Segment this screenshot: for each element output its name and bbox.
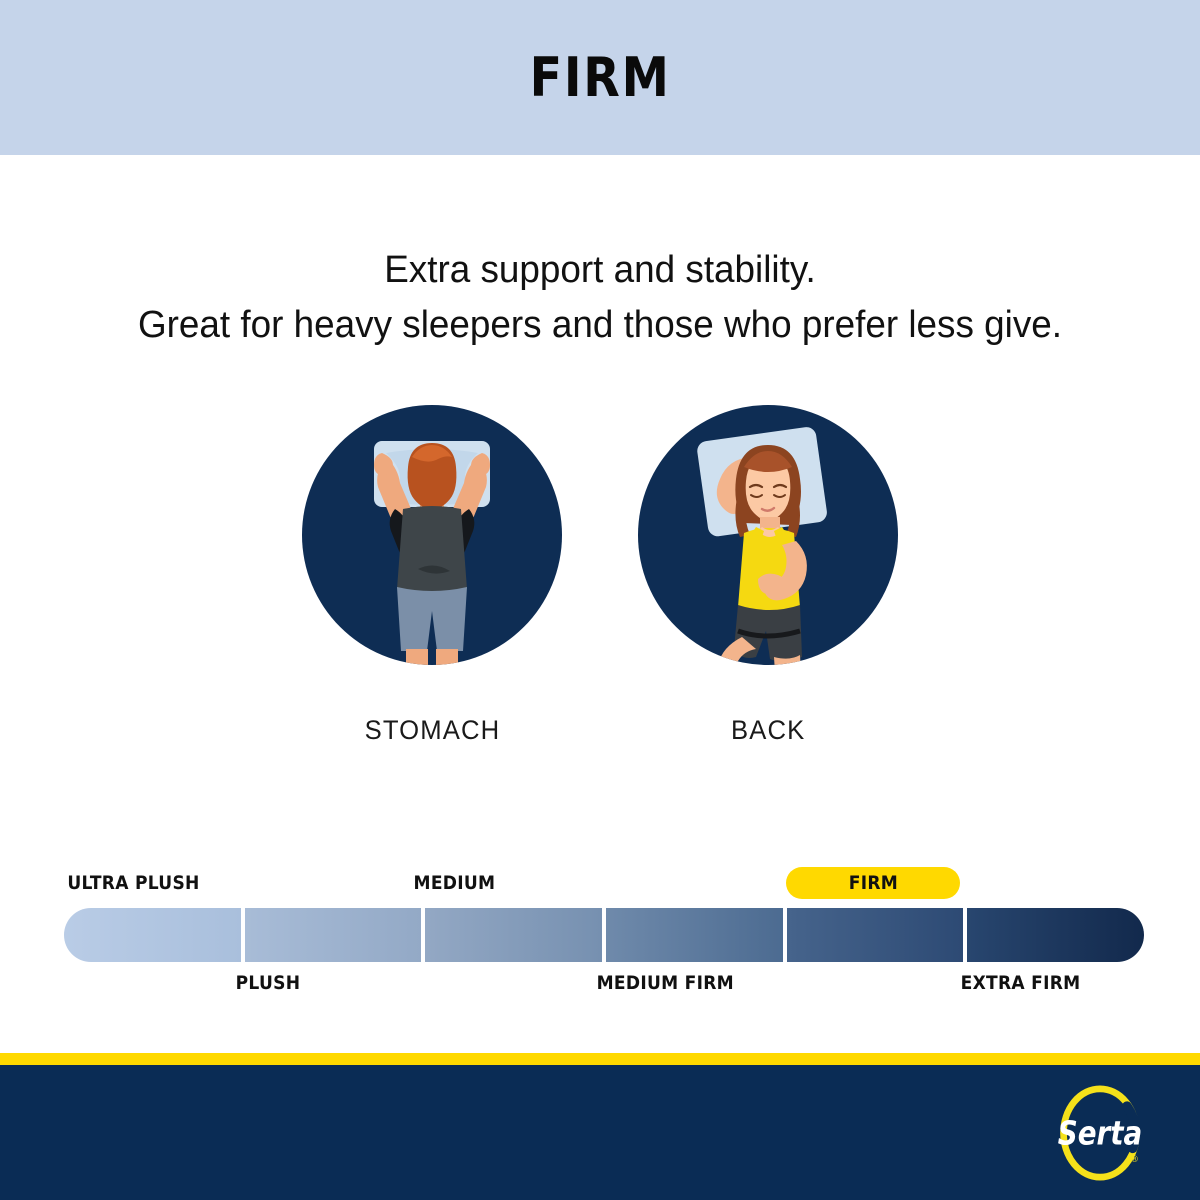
stomach-sleeper-icon bbox=[302, 405, 562, 665]
sleep-positions: STOMACH bbox=[0, 405, 1200, 746]
subtitle-line-1: Extra support and stability. bbox=[18, 243, 1182, 298]
firmness-segment-medium-firm[interactable] bbox=[606, 908, 783, 962]
firmness-segment-plush[interactable] bbox=[245, 908, 422, 962]
firmness-label-medium: MEDIUM bbox=[414, 872, 496, 894]
serta-logo-trademark: ® bbox=[1130, 1155, 1139, 1165]
firmness-segment-ultra-plush[interactable] bbox=[64, 908, 241, 962]
firmness-label-extra-firm: EXTRA FIRM bbox=[961, 972, 1081, 994]
firmness-label-plush: PLUSH bbox=[236, 972, 301, 994]
back-sleeper-icon bbox=[638, 405, 898, 665]
position-label-stomach: STOMACH bbox=[364, 715, 500, 746]
page-footer: Serta ® bbox=[0, 1065, 1200, 1200]
back-sleeper-illustration bbox=[638, 405, 898, 665]
position-card-back: BACK bbox=[638, 405, 898, 746]
firmness-scale: ULTRA PLUSH PLUSH MEDIUM MEDIUM FIRM EXT… bbox=[64, 862, 1144, 1007]
subtitle-block: Extra support and stability. Great for h… bbox=[0, 243, 1200, 353]
page-header: FIRM bbox=[0, 0, 1200, 155]
serta-logo-text: Serta bbox=[1058, 1115, 1142, 1153]
position-label-back: BACK bbox=[731, 715, 805, 746]
footer-accent-stripe bbox=[0, 1053, 1200, 1065]
firmness-segment-extra-firm[interactable] bbox=[967, 908, 1144, 962]
firmness-segment-firm[interactable] bbox=[787, 908, 964, 962]
firmness-scale-bar bbox=[64, 908, 1144, 962]
firmness-label-ultra-plush: ULTRA PLUSH bbox=[67, 872, 199, 894]
firmness-segment-medium[interactable] bbox=[425, 908, 602, 962]
page-title: FIRM bbox=[529, 51, 670, 105]
position-card-stomach: STOMACH bbox=[302, 405, 562, 746]
firmness-selected-badge-firm[interactable]: FIRM bbox=[786, 867, 960, 899]
firmness-selected-badge-label: FIRM bbox=[848, 872, 897, 894]
firmness-label-medium-firm: MEDIUM FIRM bbox=[597, 972, 734, 994]
serta-logo[interactable]: Serta ® bbox=[1052, 1085, 1148, 1181]
subtitle-line-2: Great for heavy sleepers and those who p… bbox=[18, 298, 1182, 353]
stomach-sleeper-illustration bbox=[302, 405, 562, 665]
